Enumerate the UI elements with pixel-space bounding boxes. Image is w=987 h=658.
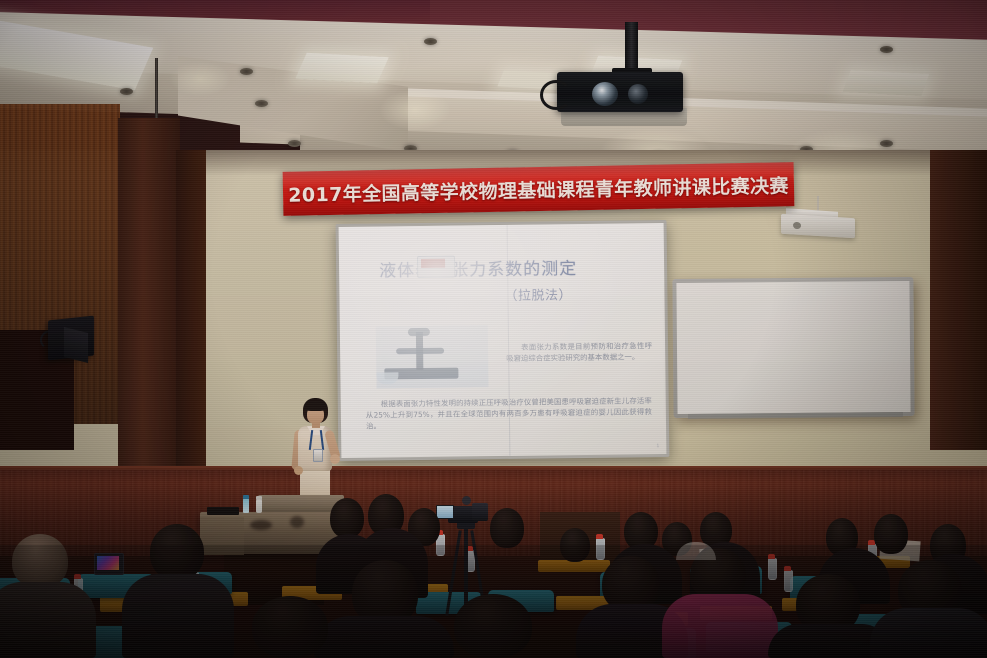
presenter-left-hand (294, 466, 303, 475)
projector-mount-stem (625, 22, 638, 74)
projector-cable (540, 80, 572, 110)
projection-screen: 液体表面张力系数的测定 （拉脱法） 表面张力系数是目前预防和治疗急性呼吸窘迫综合… (339, 223, 667, 458)
speaker-driver-icon (793, 222, 801, 229)
audience-shadow-overlay (0, 545, 987, 658)
water-bottle-cap (256, 496, 262, 500)
downlight-glow (170, 62, 230, 96)
presenter-hair-front (304, 401, 327, 411)
recessed-downlight (880, 140, 893, 147)
ceiling-panel-light (843, 70, 929, 96)
projector-lens-icon (592, 82, 618, 106)
recessed-downlight (424, 38, 437, 45)
slide-subtitle: （拉脱法） (504, 284, 572, 304)
left-wood-column-edge (176, 150, 206, 520)
presenter-badge (313, 449, 323, 462)
projector-secondary-lens-icon (628, 84, 648, 104)
water-bottle (243, 498, 249, 513)
presenter-right-hand (330, 454, 340, 464)
projector (557, 72, 683, 112)
whiteboard (672, 277, 914, 418)
recessed-downlight (880, 46, 893, 53)
camcorder-microphone-icon (462, 496, 471, 505)
left-wood-column (118, 118, 180, 518)
water-bottle-cap (243, 495, 249, 499)
water-bottle-cap (596, 534, 603, 539)
water-bottle (256, 499, 262, 513)
lecture-hall-photo: 2017年全国高等学校物理基础课程青年教师讲课比赛决赛 液体表面张力系数的测定 … (0, 0, 987, 658)
whiteboard-surface (676, 281, 910, 414)
event-banner-text: 2017年全国高等学校物理基础课程青年教师讲课比赛决赛 (288, 171, 789, 208)
wall-speaker-left-face (64, 327, 88, 363)
right-wood-column (930, 150, 987, 450)
slide-paragraph-1: 表面张力系数是目前预防和治疗急性呼吸窘迫综合症实验研究的基本数据之一。 (506, 340, 652, 364)
recessed-downlight (288, 140, 301, 147)
apparatus-liquid-dish (376, 372, 398, 384)
apparatus-display-icon (421, 259, 445, 268)
projection-screen-frame: 液体表面张力系数的测定 （拉脱法） 表面张力系数是目前预防和治疗急性呼吸窘迫综合… (336, 220, 670, 461)
slide-page-number: 1 (656, 443, 659, 449)
lectern-surface-mark (250, 520, 272, 530)
apparatus-arm (396, 348, 444, 355)
apparatus-head (408, 328, 430, 336)
recessed-downlight (240, 68, 253, 75)
slide-apparatus-photo (376, 325, 489, 388)
slide-paragraph-2: 根据表面张力特性发明的持续正压呼吸治疗仪曾把美国患呼吸窘迫症新生儿存活率从25%… (366, 395, 652, 431)
audience-head (330, 498, 364, 538)
lectern-surface-mark (290, 516, 304, 528)
camcorder-flip-screen (436, 505, 454, 519)
ceiling-panel-light (295, 53, 389, 83)
recessed-downlight (255, 100, 268, 107)
downlight-glow (380, 90, 450, 130)
lectern-keyboard[interactable] (207, 507, 239, 515)
audience-head (490, 508, 524, 548)
recessed-downlight (120, 88, 133, 95)
camcorder-lens-hood (472, 503, 488, 521)
